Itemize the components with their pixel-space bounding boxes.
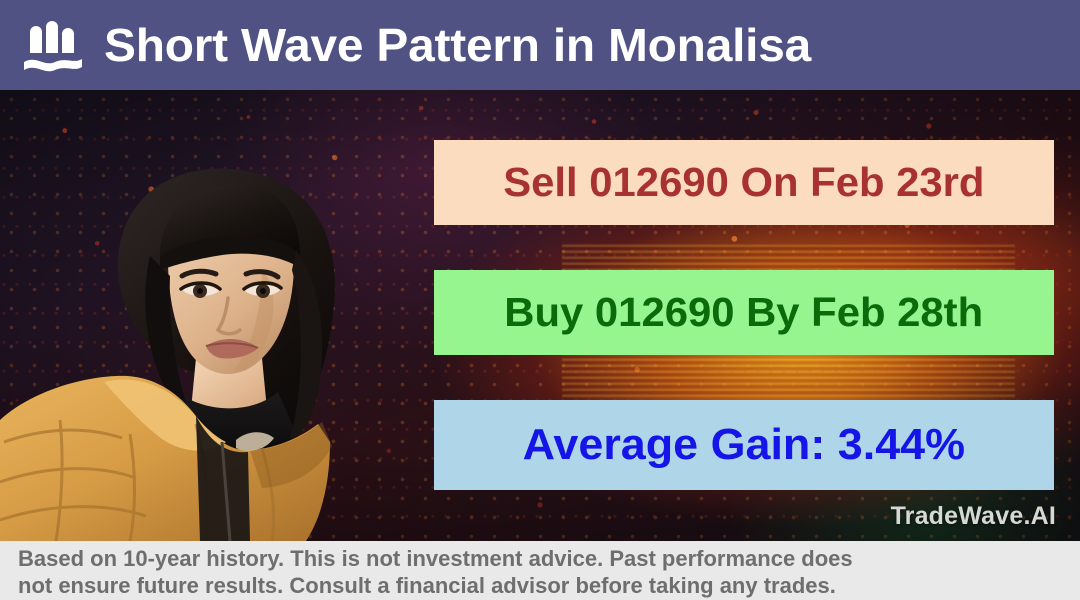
bar-chart-wave-logo-icon xyxy=(22,17,84,73)
promo-poster: Short Wave Pattern in Monalisa xyxy=(0,0,1080,600)
hero-subject-portrait xyxy=(0,90,440,541)
signal-badge-average-gain[interactable]: Average Gain: 3.44% xyxy=(434,400,1054,490)
header-bar: Short Wave Pattern in Monalisa xyxy=(0,0,1080,90)
signal-badge-sell-label: Sell 012690 On Feb 23rd xyxy=(503,162,984,203)
disclaimer-footer: Based on 10-year history. This is not in… xyxy=(0,541,1080,600)
signal-badge-buy-label: Buy 012690 By Feb 28th xyxy=(505,292,984,333)
disclaimer-line-2: not ensure future results. Consult a fin… xyxy=(18,572,1066,599)
signal-badge-buy[interactable]: Buy 012690 By Feb 28th xyxy=(434,270,1054,355)
watermark: TradeWave.AI xyxy=(891,502,1056,531)
signal-badge-sell[interactable]: Sell 012690 On Feb 23rd xyxy=(434,140,1054,225)
disclaimer-line-1: Based on 10-year history. This is not in… xyxy=(18,545,1066,572)
page-title: Short Wave Pattern in Monalisa xyxy=(104,22,811,68)
signal-badge-average-gain-label: Average Gain: 3.44% xyxy=(523,423,965,467)
